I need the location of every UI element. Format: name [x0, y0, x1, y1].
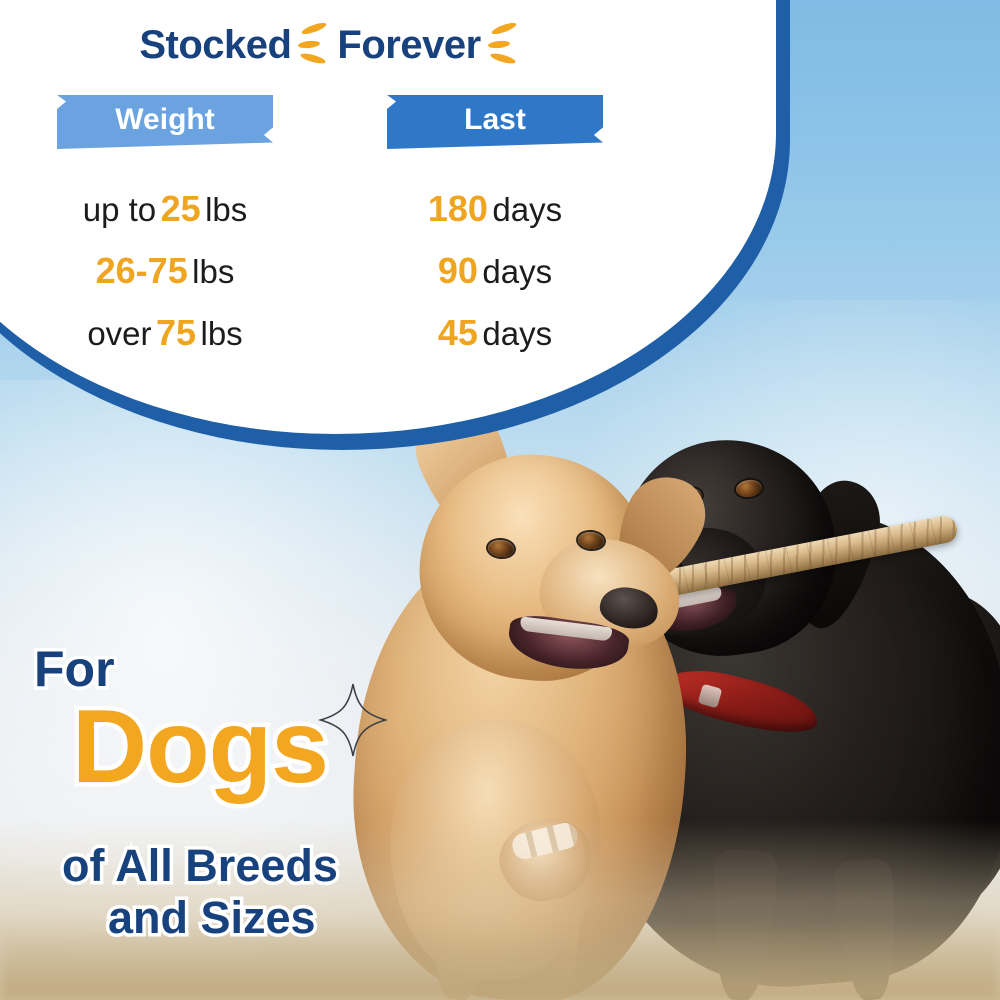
weight-unit: lbs: [205, 191, 247, 228]
last-unit: days: [492, 191, 562, 228]
sparkle-dashes-icon-2: [487, 22, 521, 68]
four-point-star-icon: [318, 682, 388, 758]
cell-weight: over 75 lbs: [0, 312, 330, 354]
tagline-line-dogs: Dogs: [72, 688, 328, 807]
cell-weight: up to 25 lbs: [0, 188, 330, 230]
poster-canvas: Stocked Forever Weight Last: [0, 0, 1000, 1000]
last-value: 90: [438, 250, 478, 291]
sparkle-dashes-icon: [297, 22, 331, 68]
headline: Stocked Forever: [0, 22, 660, 68]
weight-value: 25: [161, 188, 201, 229]
column-header-last-label: Last: [464, 103, 526, 137]
tagline-line-breeds: of All Breeds: [62, 840, 338, 892]
cell-weight: 26-75 lbs: [0, 250, 330, 292]
headline-word-forever: Forever: [337, 23, 480, 68]
weight-prefix: over: [87, 315, 151, 352]
weight-unit: lbs: [200, 315, 242, 352]
column-header-weight-label: Weight: [115, 103, 214, 137]
table-row: over 75 lbs 45 days: [0, 302, 660, 364]
weight-prefix: up to: [83, 191, 156, 228]
column-header-last: Last: [387, 95, 603, 149]
last-value: 180: [428, 188, 488, 229]
cell-last: 180 days: [330, 188, 660, 230]
last-unit: days: [482, 315, 552, 352]
last-unit: days: [482, 253, 552, 290]
panel-content: Stocked Forever Weight Last: [0, 0, 720, 460]
tagline-line-sizes: and Sizes: [108, 892, 316, 944]
cell-last: 45 days: [330, 312, 660, 354]
cell-last: 90 days: [330, 250, 660, 292]
last-value: 45: [438, 312, 478, 353]
headline-word-stocked: Stocked: [139, 23, 291, 68]
weight-unit: lbs: [192, 253, 234, 290]
table-body: up to 25 lbs 180 days 26-75 lbs 90 days: [0, 178, 660, 364]
table-row: up to 25 lbs 180 days: [0, 178, 660, 240]
column-header-weight: Weight: [57, 95, 273, 149]
table-row: 26-75 lbs 90 days: [0, 240, 660, 302]
weight-value: 26-75: [96, 250, 188, 291]
table-header-row: Weight Last: [0, 95, 660, 149]
weight-value: 75: [156, 312, 196, 353]
